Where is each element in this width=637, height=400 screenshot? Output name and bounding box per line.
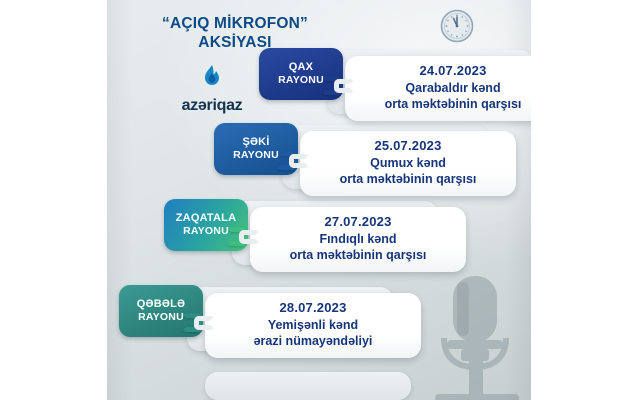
chain-link-icon bbox=[321, 76, 355, 95]
event-date: 27.07.2023 bbox=[258, 214, 458, 229]
region-badge-line-2: RAYONU bbox=[233, 149, 279, 162]
region-badge-line-2: RAYONU bbox=[183, 225, 229, 238]
region-badge-line-2: RAYONU bbox=[278, 74, 324, 87]
event-card[interactable]: 27.07.2023 Fındıqlı kənd orta məktəbinin… bbox=[250, 207, 466, 272]
event-place-line-2: ərazi nümayəndəliyi bbox=[213, 333, 413, 349]
event-date: 24.07.2023 bbox=[353, 63, 531, 78]
event-card[interactable]: 25.07.2023 Qumux kənd orta məktəbinin qa… bbox=[300, 131, 516, 196]
event-place-line-2: orta məktəbinin qarşısı bbox=[353, 96, 531, 112]
event-card[interactable]: 28.07.2023 Yemişənli kənd ərazi nümayənd… bbox=[205, 293, 421, 358]
chain-link-icon bbox=[276, 151, 310, 170]
event-place-line-2: orta məktəbinin qarşısı bbox=[258, 247, 458, 263]
event-place-line-1: Yemişənli kənd bbox=[213, 317, 413, 333]
studio-microphone-icon bbox=[417, 254, 531, 400]
campaign-poster: “AÇIQ MİKROFON” AKSİYASI azəriqaz bbox=[107, 0, 531, 400]
event-place-line-1: Qarabaldır kənd bbox=[353, 80, 531, 96]
azeriqaz-logo: azəriqaz bbox=[152, 64, 272, 115]
chain-link-icon bbox=[226, 227, 260, 246]
event-place-line-1: Qumux kənd bbox=[308, 155, 508, 171]
region-badge-line-1: ŞƏKİ bbox=[242, 136, 269, 150]
screenshot-canvas: “AÇIQ MİKROFON” AKSİYASI azəriqaz bbox=[0, 0, 637, 400]
clock-icon bbox=[439, 31, 475, 48]
flame-icon bbox=[152, 64, 272, 95]
title-line-1: “AÇIQ MİKROFON” bbox=[115, 14, 355, 33]
card-stack-shadow bbox=[205, 372, 411, 400]
event-place-line-2: orta məktəbinin qarşısı bbox=[308, 171, 508, 187]
azeriqaz-wordmark: azəriqaz bbox=[182, 97, 243, 114]
event-card[interactable]: 24.07.2023 Qarabaldır kənd orta məktəbin… bbox=[345, 56, 531, 121]
page-title: “AÇIQ MİKROFON” AKSİYASI bbox=[115, 14, 355, 53]
chain-link-icon bbox=[181, 313, 215, 332]
region-badge-line-1: QƏBƏLƏ bbox=[137, 298, 185, 312]
event-date: 28.07.2023 bbox=[213, 300, 413, 315]
event-place-line-1: Fındıqlı kənd bbox=[258, 231, 458, 247]
region-badge-line-1: ZAQATALA bbox=[176, 212, 236, 226]
region-badge-line-2: RAYONU bbox=[138, 311, 184, 324]
event-date: 25.07.2023 bbox=[308, 138, 508, 153]
region-badge-line-1: QAX bbox=[289, 61, 313, 75]
